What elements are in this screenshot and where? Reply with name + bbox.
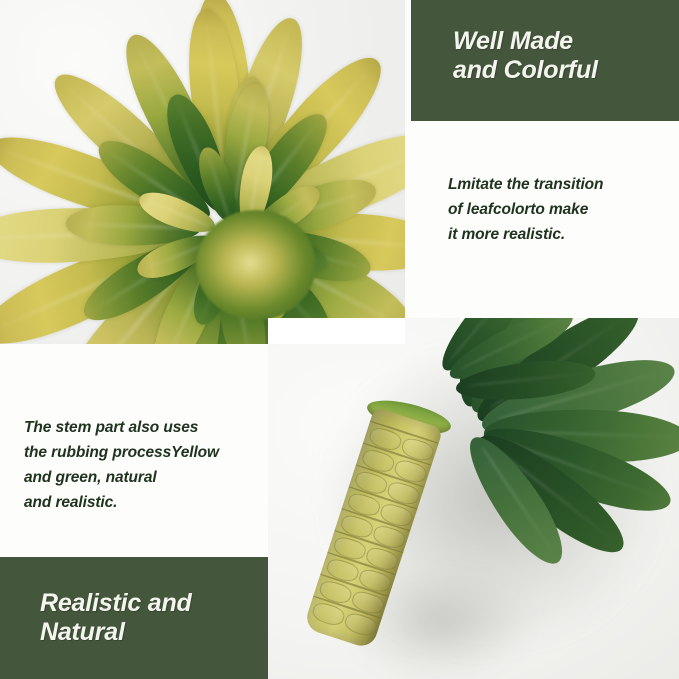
rosette-center (196, 210, 316, 320)
heading-realistic-and-natural: Realistic and Natural (40, 589, 192, 648)
panel-realistic: Realistic and Natural (0, 557, 268, 679)
infographic-canvas: Well Made and Colorful Lmitate the trans… (0, 0, 679, 679)
heading-well-made-and-colorful: Well Made and Colorful (453, 27, 598, 86)
photo-agave-stem (268, 318, 679, 679)
panel-well-made: Well Made and Colorful (411, 0, 679, 121)
photo-agave-rosette (0, 0, 405, 344)
copy-leaf-color-transition: Lmitate the transition of leafcolorto ma… (448, 172, 663, 247)
photo-overlap-notch (268, 318, 405, 344)
copy-stem-rubbing-process: The stem part also uses the rubbing proc… (24, 415, 269, 515)
